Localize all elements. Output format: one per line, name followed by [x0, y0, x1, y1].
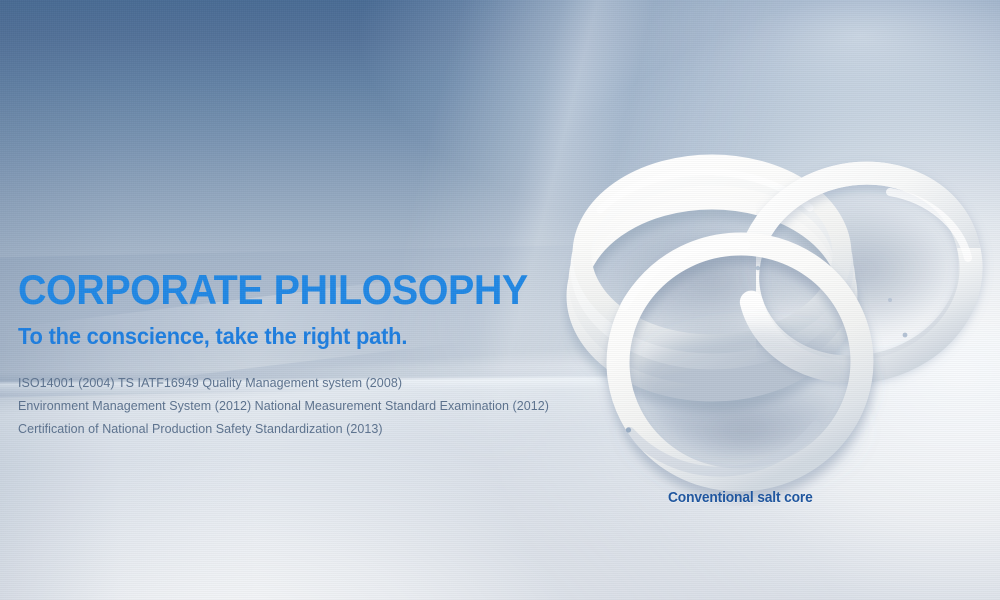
corporate-philosophy-banner: CORPORATE PHILOSOPHY To the conscience, …	[0, 0, 1000, 600]
background-grain	[0, 0, 1000, 600]
